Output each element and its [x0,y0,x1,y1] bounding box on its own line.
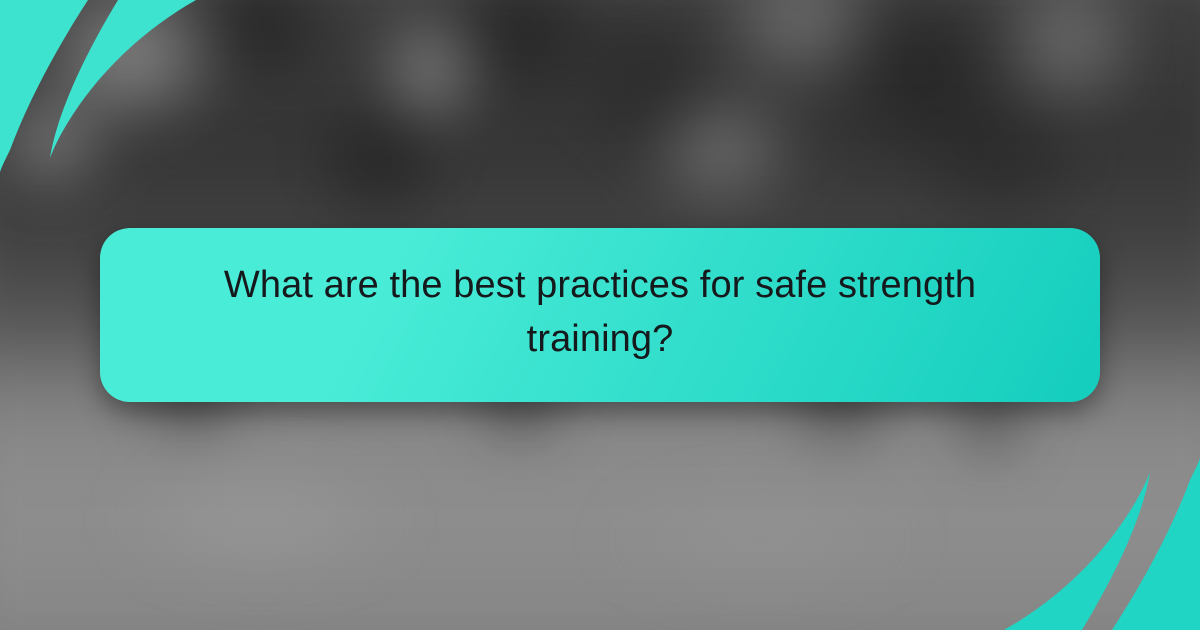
question-card: What are the best practices for safe str… [100,228,1100,402]
social-share-card: What are the best practices for safe str… [0,0,1200,630]
question-text: What are the best practices for safe str… [215,259,985,367]
